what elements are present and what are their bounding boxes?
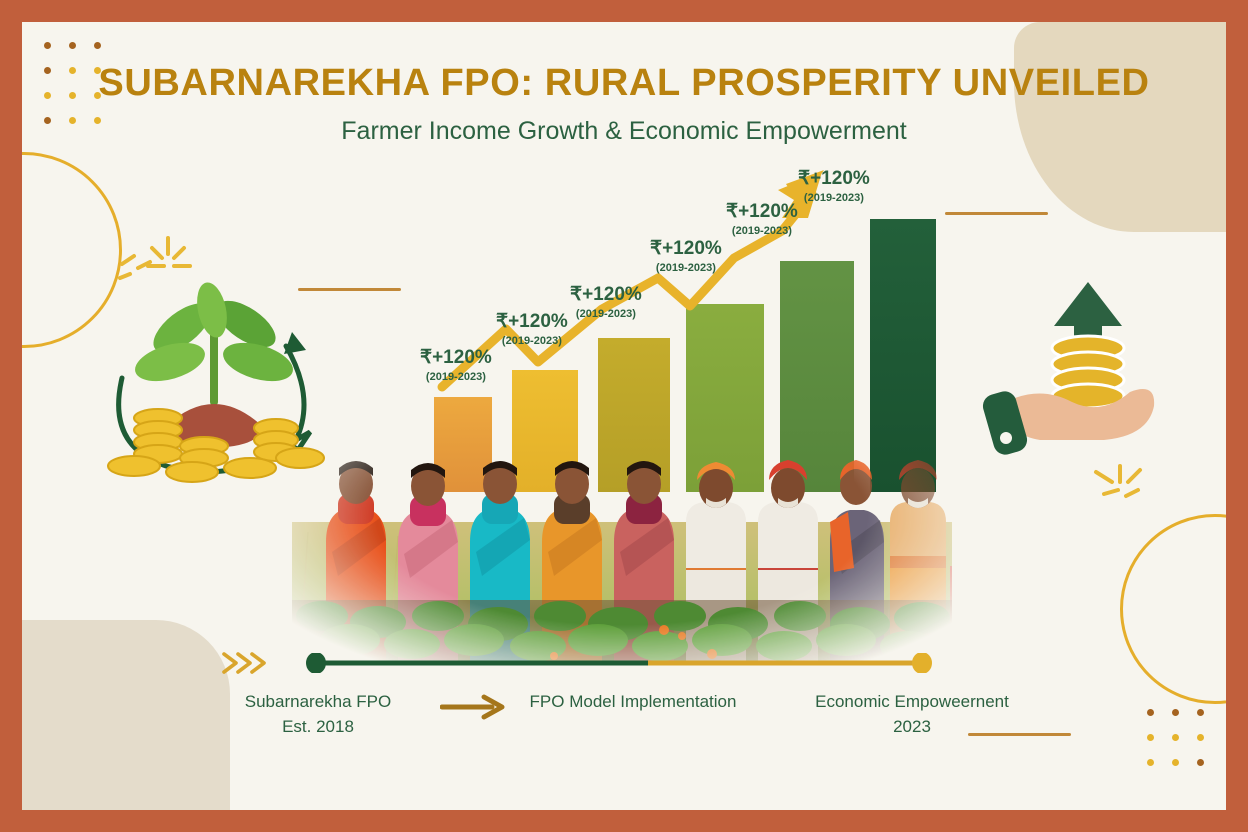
chart-data-label-5: ₹+120% (2019-2023): [726, 202, 798, 237]
timeline-step-2: FPO Model Implementation: [488, 690, 778, 715]
farmers-group-photo: [292, 372, 952, 662]
hand-holding-coins-icon: [980, 270, 1170, 470]
chart-data-label-6: ₹+120% (2019-2023): [798, 169, 870, 204]
chart-data-label-3: ₹+120% (2019-2023): [570, 285, 642, 320]
timeline-step-3: Economic Empoweernent 2023: [782, 690, 1042, 739]
timeline: Subarnarekha FPO Est. 2018 FPO Model Imp…: [22, 642, 1226, 772]
poster-canvas: SUBARNAREKHA FPO: RURAL PROSPERITY UNVEI…: [22, 22, 1226, 810]
timeline-track: [304, 653, 934, 673]
chevrons-right-icon: [218, 648, 274, 678]
chart-data-label-4: ₹+120% (2019-2023): [650, 239, 722, 274]
poster-background: SUBARNAREKHA FPO: RURAL PROSPERITY UNVEI…: [0, 0, 1248, 832]
timeline-step-1: Subarnarekha FPO Est. 2018: [208, 690, 428, 739]
chart-data-label-2: ₹+120% (2019-2023): [496, 312, 568, 347]
timeline-end-dot: [912, 653, 932, 673]
plant-growth-icon: [100, 250, 330, 502]
timeline-start-dot: [306, 653, 326, 673]
